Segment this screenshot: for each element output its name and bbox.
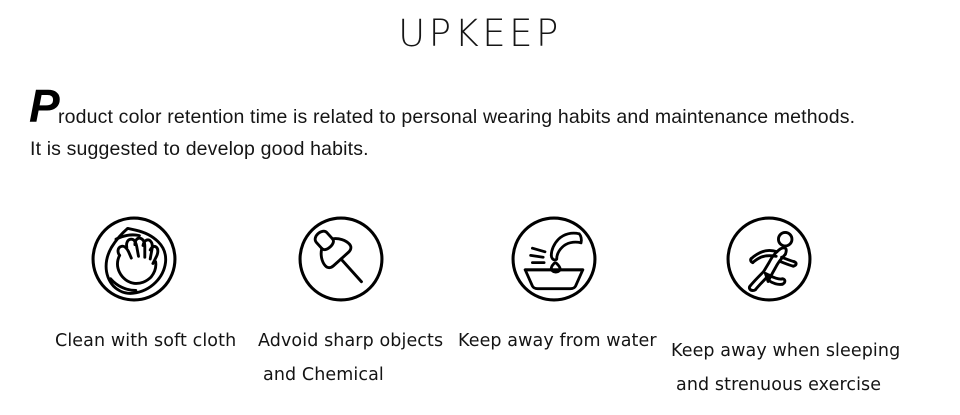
running-person-icon xyxy=(724,214,814,304)
caption-line-1: Keep away from water xyxy=(458,324,650,358)
caption-line-2: and Chemical xyxy=(258,358,436,392)
caption-avoid-sharp-objects: Advoid sharp objects and Chemical xyxy=(258,324,436,392)
hand-with-cloth-icon xyxy=(89,214,179,304)
intro-dropcap: P xyxy=(29,83,60,129)
upkeep-care-panel: UPKEEP P roduct color retention time is … xyxy=(0,0,960,415)
page-title: UPKEEP xyxy=(0,8,960,60)
intro-line-1-text: roduct color retention time is related t… xyxy=(58,106,855,129)
caption-line-1: Keep away when sleeping xyxy=(671,334,891,368)
intro-line-2-text: It is suggested to develop good habits. xyxy=(30,138,369,161)
push-pin-icon xyxy=(296,214,386,304)
caption-line-1: Clean with soft cloth xyxy=(55,324,225,358)
caption-keep-away-sleeping-exercise: Keep away when sleeping and strenuous ex… xyxy=(671,334,891,402)
caption-line-2: and strenuous exercise xyxy=(671,368,891,402)
faucet-basin-icon xyxy=(509,214,599,304)
intro-paragraph: P roduct color retention time is related… xyxy=(29,84,934,132)
caption-clean-with-cloth: Clean with soft cloth xyxy=(55,324,225,358)
intro-line-1: P roduct color retention time is related… xyxy=(29,84,934,132)
caption-keep-away-from-water: Keep away from water xyxy=(458,324,650,358)
caption-line-1: Advoid sharp objects xyxy=(258,324,436,358)
